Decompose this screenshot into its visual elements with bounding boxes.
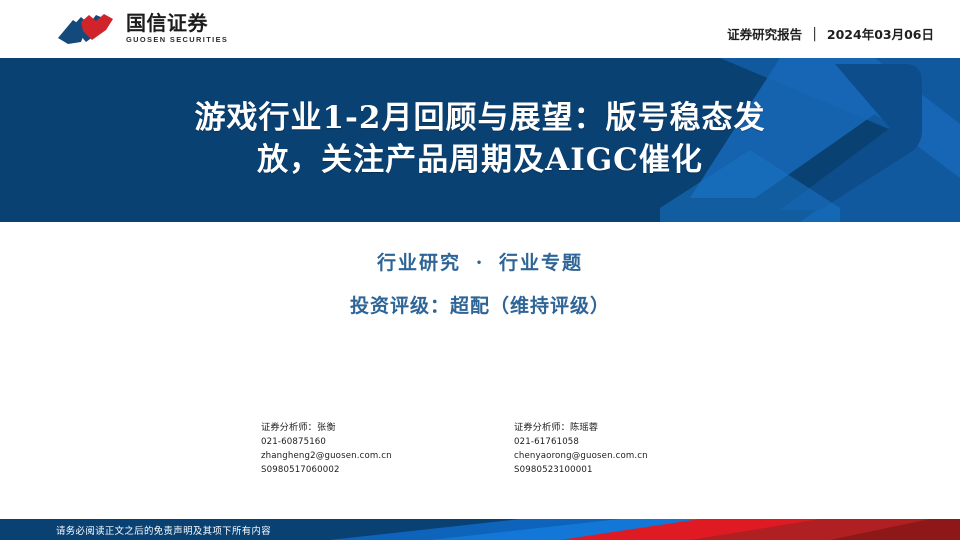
- analyst-block: 证券分析师：陈瑶蓉 021-61761058 chenyaorong@guose…: [514, 421, 699, 478]
- footer-disclaimer: 请务必阅读正文之后的免责声明及其项下所有内容: [56, 519, 271, 540]
- analyst-name: 证券分析师：张衡: [261, 421, 446, 436]
- analyst-license: S0980523100001: [514, 464, 699, 478]
- analyst-section: 证券分析师：张衡 021-60875160 zhangheng2@guosen.…: [0, 421, 960, 478]
- page-footer: 请务必阅读正文之后的免责声明及其项下所有内容: [0, 519, 960, 540]
- analyst-email[interactable]: zhangheng2@guosen.com.cn: [261, 450, 446, 464]
- report-type-label: 证券研究报告: [727, 24, 802, 43]
- analyst-block: 证券分析师：张衡 021-60875160 zhangheng2@guosen.…: [261, 421, 446, 478]
- report-title: 游戏行业1-2月回顾与展望：版号稳态发 放，关注产品周期及AIGC催化: [0, 58, 960, 222]
- subtitle-separator: ·: [470, 252, 491, 274]
- page-header: 国信证券 GUOSEN SECURITIES 证券研究报告 | 2024年03月…: [0, 0, 960, 58]
- research-category-line: 行业研究 · 行业专题: [0, 248, 960, 275]
- analyst-email[interactable]: chenyaorong@guosen.com.cn: [514, 450, 699, 464]
- analyst-name: 证券分析师：陈瑶蓉: [514, 421, 699, 436]
- report-title-line-1: 游戏行业1-2月回顾与展望：版号稳态发: [194, 98, 765, 140]
- logo-name-cn: 国信证券: [126, 13, 228, 33]
- research-category: 行业研究: [377, 252, 461, 274]
- investment-rating: 投资评级：超配（维持评级）: [0, 291, 960, 318]
- brand-logo: 国信证券 GUOSEN SECURITIES: [56, 11, 228, 45]
- guosen-logo-icon: [56, 11, 118, 45]
- analyst-phone: 021-60875160: [261, 436, 446, 450]
- title-banner: 游戏行业1-2月回顾与展望：版号稳态发 放，关注产品周期及AIGC催化: [0, 58, 960, 222]
- report-date: 2024年03月06日: [827, 24, 934, 43]
- subtitle-block: 行业研究 · 行业专题 投资评级：超配（维持评级）: [0, 248, 960, 318]
- analyst-phone: 021-61761058: [514, 436, 699, 450]
- analyst-license: S0980517060002: [261, 464, 446, 478]
- research-topic: 行业专题: [499, 252, 583, 274]
- logo-name-en: GUOSEN SECURITIES: [126, 36, 228, 43]
- report-title-line-2: 放，关注产品周期及AIGC催化: [257, 140, 703, 182]
- header-meta: 证券研究报告 | 2024年03月06日: [727, 24, 934, 43]
- header-divider: |: [811, 26, 818, 42]
- logo-wordmark: 国信证券 GUOSEN SECURITIES: [126, 13, 228, 43]
